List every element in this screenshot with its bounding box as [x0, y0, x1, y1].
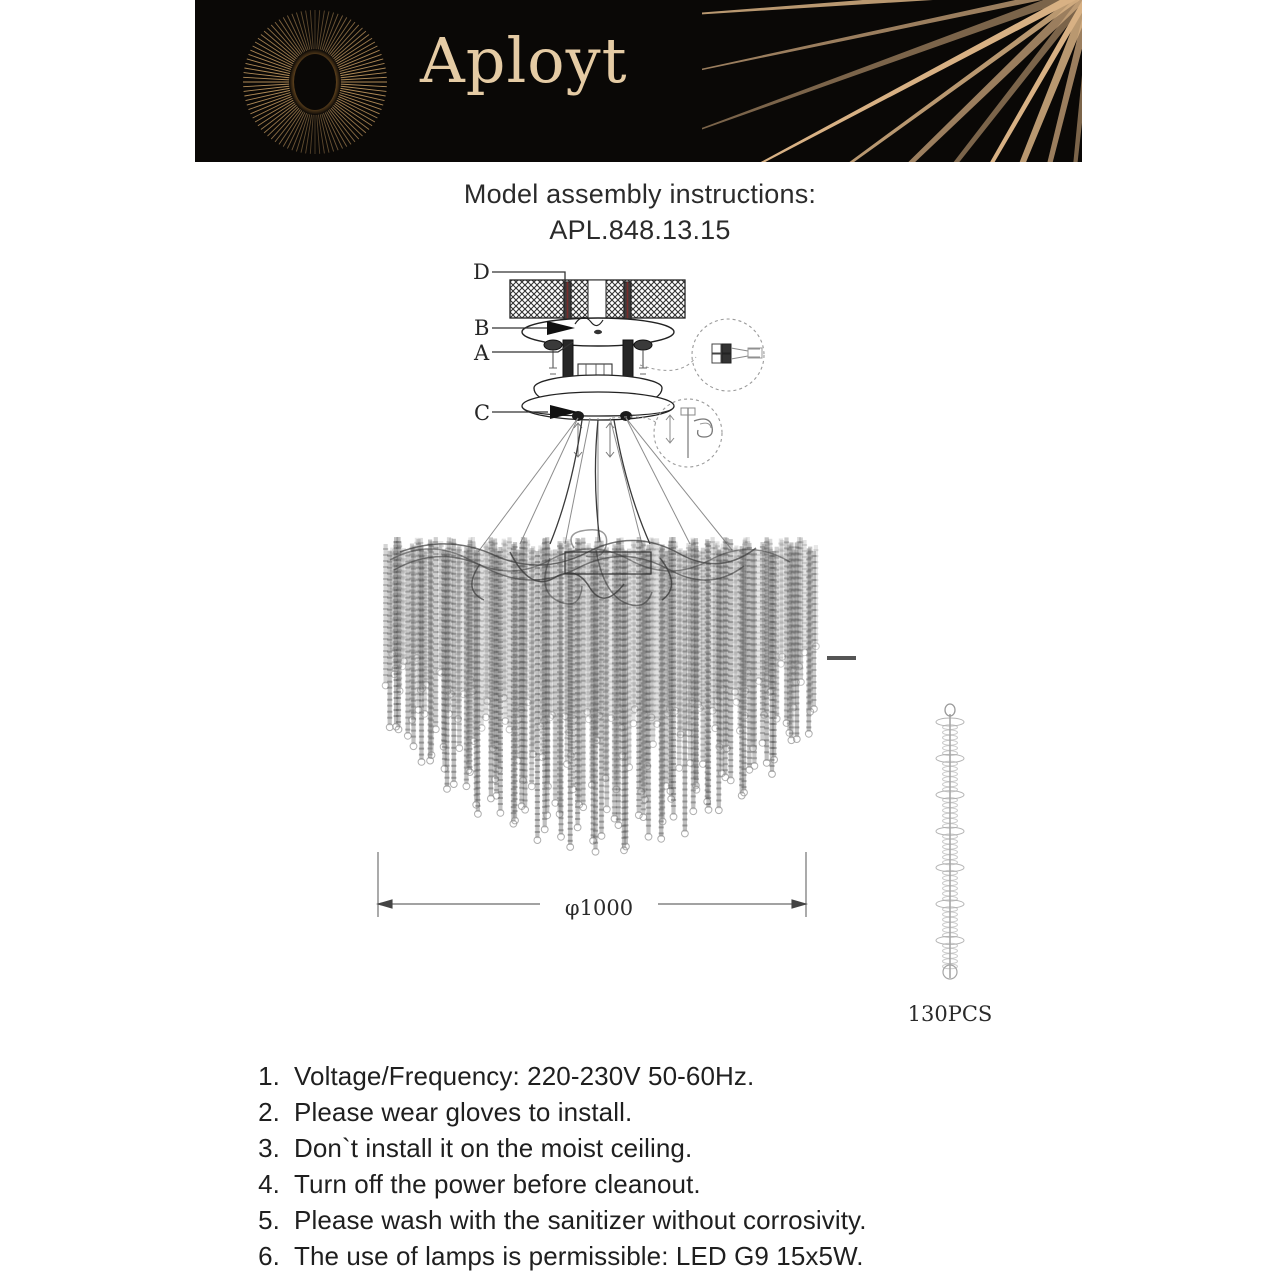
list-item-text: Turn off the power before cleanout.: [294, 1166, 1232, 1202]
list-item: 2. Please wear gloves to install.: [232, 1094, 1232, 1130]
callout-label-d: D: [473, 260, 490, 284]
list-item-text: Voltage/Frequency: 220-230V 50-60Hz.: [294, 1058, 1232, 1094]
list-item: 6. The use of lamps is permissible: LED …: [232, 1238, 1232, 1274]
callout-label-c: C: [474, 401, 490, 425]
list-item-number: 1.: [232, 1058, 294, 1094]
crystal-chandelier-icon: [382, 530, 819, 855]
diameter-label: φ1000: [540, 896, 658, 920]
inner-power-cables: [550, 420, 650, 544]
list-item: 5. Please wash with the sanitizer withou…: [232, 1202, 1232, 1238]
length-adjust-arrows: [574, 423, 614, 457]
canopy-disc: [522, 375, 674, 420]
brand-banner: Aployt: [195, 0, 1082, 162]
list-item: 4. Turn off the power before cleanout.: [232, 1166, 1232, 1202]
list-item-text: Please wear gloves to install.: [294, 1094, 1232, 1130]
list-item-number: 5.: [232, 1202, 294, 1238]
list-item-number: 2.: [232, 1094, 294, 1130]
scale-dash-mark: [827, 656, 856, 660]
suspension-cables: [478, 418, 732, 552]
assembly-diagram: [360, 252, 840, 932]
list-item: 1. Voltage/Frequency: 220-230V 50-60Hz.: [232, 1058, 1232, 1094]
list-item-text: Please wash with the sanitizer without c…: [294, 1202, 1232, 1238]
title-line-1: Model assembly instructions:: [0, 176, 1280, 212]
list-item-text: Don`t install it on the moist ceiling.: [294, 1130, 1232, 1166]
list-item-number: 6.: [232, 1238, 294, 1274]
ceiling-slab: [510, 280, 685, 318]
title-line-2: APL.848.13.15: [0, 212, 1280, 248]
list-item: 3. Don`t install it on the moist ceiling…: [232, 1130, 1232, 1166]
page-title: Model assembly instructions: APL.848.13.…: [0, 176, 1280, 248]
list-item-number: 3.: [232, 1130, 294, 1166]
instruction-list: 1. Voltage/Frequency: 220-230V 50-60Hz. …: [232, 1058, 1232, 1274]
list-item-number: 4.: [232, 1166, 294, 1202]
crystal-strand-icon: [905, 700, 995, 990]
gold-rays-icon: [702, 0, 1082, 162]
callout-label-a: A: [474, 341, 489, 365]
callout-label-b: B: [474, 316, 489, 340]
list-item-text: The use of lamps is permissible: LED G9 …: [294, 1238, 1232, 1274]
part-quantity-label: 130PCS: [880, 1002, 1020, 1026]
sunburst-emblem-icon: [240, 8, 390, 156]
mounting-plate: [522, 317, 674, 346]
brand-wordmark: Aployt: [420, 30, 628, 92]
